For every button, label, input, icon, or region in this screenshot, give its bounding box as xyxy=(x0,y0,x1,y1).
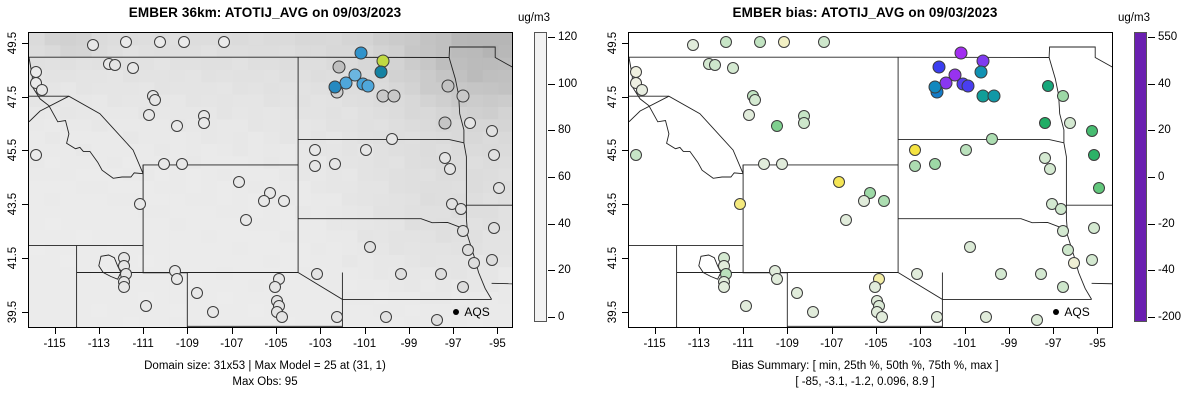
y-axis-tick xyxy=(22,97,28,98)
x-axis-tick xyxy=(320,328,321,334)
x-axis-label: -105 xyxy=(265,338,288,350)
x-axis-tick xyxy=(876,328,877,334)
colorbar-bias-tick-label: 20 xyxy=(1158,124,1171,136)
observation-marker xyxy=(278,195,290,207)
x-axis-tick xyxy=(1053,328,1054,334)
observation-marker xyxy=(931,311,943,323)
x-axis-tick xyxy=(1097,328,1098,334)
observation-marker xyxy=(441,79,454,92)
y-axis-label: 47.5 xyxy=(607,85,619,107)
observation-marker xyxy=(435,268,447,280)
observation-marker xyxy=(960,144,972,156)
observation-marker xyxy=(233,176,245,188)
observation-marker xyxy=(127,62,139,74)
observation-marker xyxy=(309,144,321,156)
x-axis-label: -115 xyxy=(643,338,665,350)
y-axis-tick xyxy=(622,258,628,259)
map-canvas-model: AQS xyxy=(29,33,512,327)
observation-marker xyxy=(928,80,941,93)
x-axis-label: -97 xyxy=(1045,338,1062,350)
observation-marker xyxy=(1062,244,1074,256)
observation-marker xyxy=(269,281,281,293)
y-axis-label: 41.5 xyxy=(7,247,19,269)
observation-marker xyxy=(240,214,252,226)
observation-marker xyxy=(118,281,130,293)
observation-marker xyxy=(1086,254,1098,266)
y-axis-label: 49.5 xyxy=(607,32,619,54)
panel-bias-caption-line2: [ -85, -3.1, -1.2, 0.096, 8.9 ] xyxy=(600,376,1130,388)
x-axis-tick xyxy=(453,328,454,334)
panel-model-caption-line1: Domain size: 31x53 | Max Model = 25 at (… xyxy=(0,360,530,372)
map-canvas-bias: AQS xyxy=(629,33,1112,327)
colorbar-bias-tick-label: -20 xyxy=(1158,218,1175,230)
observation-marker xyxy=(462,244,474,256)
panel-bias-plot-frame: AQS xyxy=(628,32,1113,328)
observation-marker xyxy=(488,149,500,161)
colorbar-model-tick-label: 120 xyxy=(558,31,577,43)
observation-marker xyxy=(431,314,443,326)
observation-marker xyxy=(955,47,968,60)
y-axis-tick xyxy=(22,150,28,151)
x-axis-tick xyxy=(55,328,56,334)
colorbar-bias-tick-label: -40 xyxy=(1158,264,1175,276)
observation-marker xyxy=(311,268,323,280)
observation-marker xyxy=(158,158,170,170)
x-axis-label: -109 xyxy=(176,338,199,350)
observation-marker xyxy=(734,198,746,210)
observation-marker xyxy=(749,94,761,106)
observation-marker xyxy=(375,66,388,79)
x-axis-label: -95 xyxy=(1089,338,1106,350)
colorbar-bias-tick xyxy=(1148,37,1155,38)
observation-marker xyxy=(1088,222,1100,234)
observation-marker xyxy=(486,125,498,137)
y-axis-label: 41.5 xyxy=(607,247,619,269)
y-axis-tick xyxy=(622,312,628,313)
observation-marker xyxy=(878,195,890,207)
observation-marker xyxy=(791,287,803,299)
observation-marker xyxy=(355,47,368,60)
colorbar-bias-title: ug/m3 xyxy=(1118,12,1150,24)
observation-marker xyxy=(109,59,121,71)
x-axis-tick xyxy=(920,328,921,334)
observation-marker xyxy=(909,160,921,172)
y-axis-tick xyxy=(622,150,628,151)
observation-marker xyxy=(961,79,974,92)
panel-model-plot-frame: AQS xyxy=(28,32,513,328)
x-axis-label: -113 xyxy=(88,338,110,350)
panel-bias: EMBER bias: ATOTIJ_AVG on 09/03/2023 AQS… xyxy=(600,0,1200,409)
observation-marker xyxy=(798,117,810,129)
observation-marker xyxy=(876,311,888,323)
observation-marker xyxy=(840,214,852,226)
y-axis-tick xyxy=(22,258,28,259)
observation-marker xyxy=(395,268,407,280)
observation-marker xyxy=(328,80,341,93)
observation-marker xyxy=(740,300,752,312)
panel-model-caption-line2: Max Obs: 95 xyxy=(0,376,530,388)
colorbar-model-tick-label: 60 xyxy=(558,171,571,183)
observation-marker xyxy=(636,84,648,96)
observation-marker xyxy=(386,133,398,145)
observation-marker xyxy=(933,60,946,73)
y-axis-tick xyxy=(622,204,628,205)
observation-marker xyxy=(140,300,152,312)
observation-marker xyxy=(818,36,830,48)
observation-marker xyxy=(718,281,730,293)
x-axis-tick xyxy=(143,328,144,334)
x-axis-label: -95 xyxy=(489,338,506,350)
observation-marker xyxy=(743,109,755,121)
y-axis-label: 43.5 xyxy=(607,193,619,215)
x-axis-label: -101 xyxy=(953,338,976,350)
observation-marker xyxy=(771,120,783,132)
aqs-legend-label: AQS xyxy=(464,305,489,319)
observation-marker xyxy=(727,62,739,74)
observation-marker xyxy=(980,311,992,323)
colorbar-model-tick xyxy=(548,224,555,225)
observation-marker xyxy=(1064,117,1076,129)
panel-bias-caption-line1: Bias Summary: [ min, 25th %, 50th %, 75t… xyxy=(600,360,1130,372)
observation-marker xyxy=(1086,125,1098,137)
observation-marker xyxy=(1068,257,1080,269)
observation-marker xyxy=(630,149,642,161)
x-axis-tick xyxy=(655,328,656,334)
colorbar-bias-tick-label: 0 xyxy=(1158,171,1164,183)
observation-marker xyxy=(455,203,467,215)
x-axis-label: -107 xyxy=(820,338,843,350)
colorbar-model-tick xyxy=(548,270,555,271)
colorbar-model-gradient xyxy=(534,32,547,322)
aqs-legend-label: AQS xyxy=(1064,305,1089,319)
observation-marker xyxy=(488,222,500,234)
observation-marker xyxy=(1035,268,1047,280)
observation-marker xyxy=(833,176,845,188)
x-axis-tick xyxy=(1009,328,1010,334)
y-axis-tick xyxy=(22,43,28,44)
observation-marker xyxy=(120,36,132,48)
x-axis-label: -115 xyxy=(43,338,65,350)
x-axis-tick xyxy=(365,328,366,334)
observation-marker xyxy=(709,59,721,71)
observation-marker xyxy=(468,257,480,269)
y-axis-label: 49.5 xyxy=(7,32,19,54)
observation-marker xyxy=(909,144,921,156)
colorbar-model-tick xyxy=(548,317,555,318)
observation-marker xyxy=(986,133,998,145)
x-axis-label: -107 xyxy=(220,338,243,350)
y-axis-label: 45.5 xyxy=(607,139,619,161)
observation-marker xyxy=(1039,117,1051,129)
aqs-legend-dot xyxy=(1053,309,1059,315)
x-axis-label: -111 xyxy=(133,338,154,350)
colorbar-bias-tick-label: 40 xyxy=(1158,78,1171,90)
observation-marker xyxy=(911,268,923,280)
observation-marker xyxy=(758,158,770,170)
observation-marker xyxy=(1093,182,1105,194)
colorbar-model-tick-label: 40 xyxy=(558,218,571,230)
y-axis-label: 43.5 xyxy=(7,193,19,215)
observation-marker xyxy=(444,163,456,175)
observation-marker xyxy=(143,109,155,121)
colorbar-model-tick xyxy=(548,130,555,131)
observation-marker xyxy=(1088,149,1100,161)
panel-bias-title: EMBER bias: ATOTIJ_AVG on 09/03/2023 xyxy=(600,5,1130,20)
observation-marker xyxy=(360,144,372,156)
observation-marker xyxy=(388,90,401,103)
observation-marker xyxy=(361,79,374,92)
x-axis-tick xyxy=(965,328,966,334)
observation-marker xyxy=(329,158,341,170)
observation-marker xyxy=(364,241,376,253)
x-axis-label: -99 xyxy=(401,338,418,350)
observation-marker xyxy=(988,90,1001,103)
x-axis-tick xyxy=(497,328,498,334)
x-axis-tick xyxy=(276,328,277,334)
x-axis-label: -105 xyxy=(865,338,888,350)
y-axis-tick xyxy=(622,97,628,98)
x-axis-label: -103 xyxy=(909,338,932,350)
observation-marker xyxy=(720,36,732,48)
observation-marker xyxy=(1042,80,1054,92)
observation-marker xyxy=(457,281,469,293)
observation-marker xyxy=(36,84,48,96)
x-axis-tick xyxy=(99,328,100,334)
x-axis-tick xyxy=(232,328,233,334)
y-axis-tick xyxy=(22,204,28,205)
observation-marker xyxy=(309,160,321,172)
y-axis-label: 45.5 xyxy=(7,139,19,161)
colorbar-bias-tick xyxy=(1148,177,1155,178)
x-axis-tick xyxy=(832,328,833,334)
observation-marker xyxy=(754,36,766,48)
colorbar-model-tick-label: 0 xyxy=(558,311,564,323)
y-axis-label: 39.5 xyxy=(607,301,619,323)
colorbar-bias-gradient xyxy=(1134,32,1147,322)
y-axis-label: 47.5 xyxy=(7,85,19,107)
observation-marker xyxy=(30,149,42,161)
x-axis-label: -113 xyxy=(688,338,710,350)
x-axis-label: -109 xyxy=(776,338,799,350)
observation-marker xyxy=(333,60,346,73)
observation-marker xyxy=(1031,314,1043,326)
observation-marker xyxy=(198,117,210,129)
y-axis-label: 39.5 xyxy=(7,301,19,323)
colorbar-bias-tick xyxy=(1148,84,1155,85)
observation-marker xyxy=(457,225,469,237)
colorbar-model-tick xyxy=(548,37,555,38)
observation-marker xyxy=(807,306,819,318)
x-axis-tick xyxy=(743,328,744,334)
observation-marker xyxy=(929,158,941,170)
observation-marker xyxy=(776,158,788,170)
aqs-legend-dot xyxy=(453,309,459,315)
colorbar-model-tick xyxy=(548,84,555,85)
colorbar-bias-tick xyxy=(1148,270,1155,271)
colorbar-bias-tick-label: -200 xyxy=(1158,311,1181,323)
observation-marker xyxy=(276,311,288,323)
y-axis-tick xyxy=(622,43,628,44)
observation-marker xyxy=(171,273,183,285)
x-axis-tick xyxy=(409,328,410,334)
panel-model-title: EMBER 36km: ATOTIJ_AVG on 09/03/2023 xyxy=(0,5,530,20)
observation-marker xyxy=(1057,225,1069,237)
observation-marker xyxy=(778,36,790,48)
observation-marker xyxy=(171,120,183,132)
figure-root: EMBER 36km: ATOTIJ_AVG on 09/03/2023 AQS… xyxy=(0,0,1200,409)
observation-marker xyxy=(771,273,783,285)
colorbar-model-tick-label: 100 xyxy=(558,78,577,90)
colorbar-model-tick-label: 20 xyxy=(558,264,571,276)
observation-marker xyxy=(439,117,452,130)
observation-marker xyxy=(191,287,203,299)
x-axis-label: -97 xyxy=(445,338,462,350)
observation-marker xyxy=(1044,163,1056,175)
observation-marker xyxy=(154,36,166,48)
observation-marker xyxy=(486,254,498,266)
colorbar-bias-tick xyxy=(1148,130,1155,131)
observation-marker xyxy=(87,39,99,51)
colorbar-model-tick xyxy=(548,177,555,178)
observation-marker xyxy=(464,117,476,129)
colorbar-model-title: ug/m3 xyxy=(518,12,550,24)
observation-marker xyxy=(218,36,230,48)
observation-marker xyxy=(687,39,699,51)
panel-model: EMBER 36km: ATOTIJ_AVG on 09/03/2023 AQS… xyxy=(0,0,600,409)
x-axis-tick xyxy=(787,328,788,334)
observation-marker xyxy=(380,311,392,323)
observation-marker xyxy=(258,195,270,207)
observation-marker xyxy=(1055,203,1067,215)
observation-marker xyxy=(975,66,988,79)
observation-marker xyxy=(869,281,881,293)
x-axis-label: -101 xyxy=(353,338,376,350)
observation-marker xyxy=(1057,281,1069,293)
colorbar-model-tick-label: 80 xyxy=(558,124,571,136)
observation-marker xyxy=(178,36,190,48)
x-axis-label: -111 xyxy=(733,338,754,350)
observation-marker xyxy=(176,158,188,170)
observation-marker xyxy=(331,311,343,323)
observation-marker xyxy=(964,241,976,253)
observation-marker xyxy=(149,94,161,106)
colorbar-bias-tick xyxy=(1148,317,1155,318)
x-axis-label: -103 xyxy=(309,338,332,350)
colorbar-bias-tick xyxy=(1148,224,1155,225)
x-axis-label: -99 xyxy=(1001,338,1018,350)
observation-marker xyxy=(858,195,870,207)
observation-marker xyxy=(457,90,470,103)
x-axis-tick xyxy=(699,328,700,334)
observation-marker xyxy=(1057,90,1069,102)
x-axis-tick xyxy=(187,328,188,334)
observation-marker xyxy=(493,182,505,194)
colorbar-bias-tick-label: 550 xyxy=(1158,31,1177,43)
y-axis-tick xyxy=(22,312,28,313)
observation-marker xyxy=(995,268,1007,280)
observation-marker xyxy=(134,198,146,210)
observation-marker xyxy=(207,306,219,318)
